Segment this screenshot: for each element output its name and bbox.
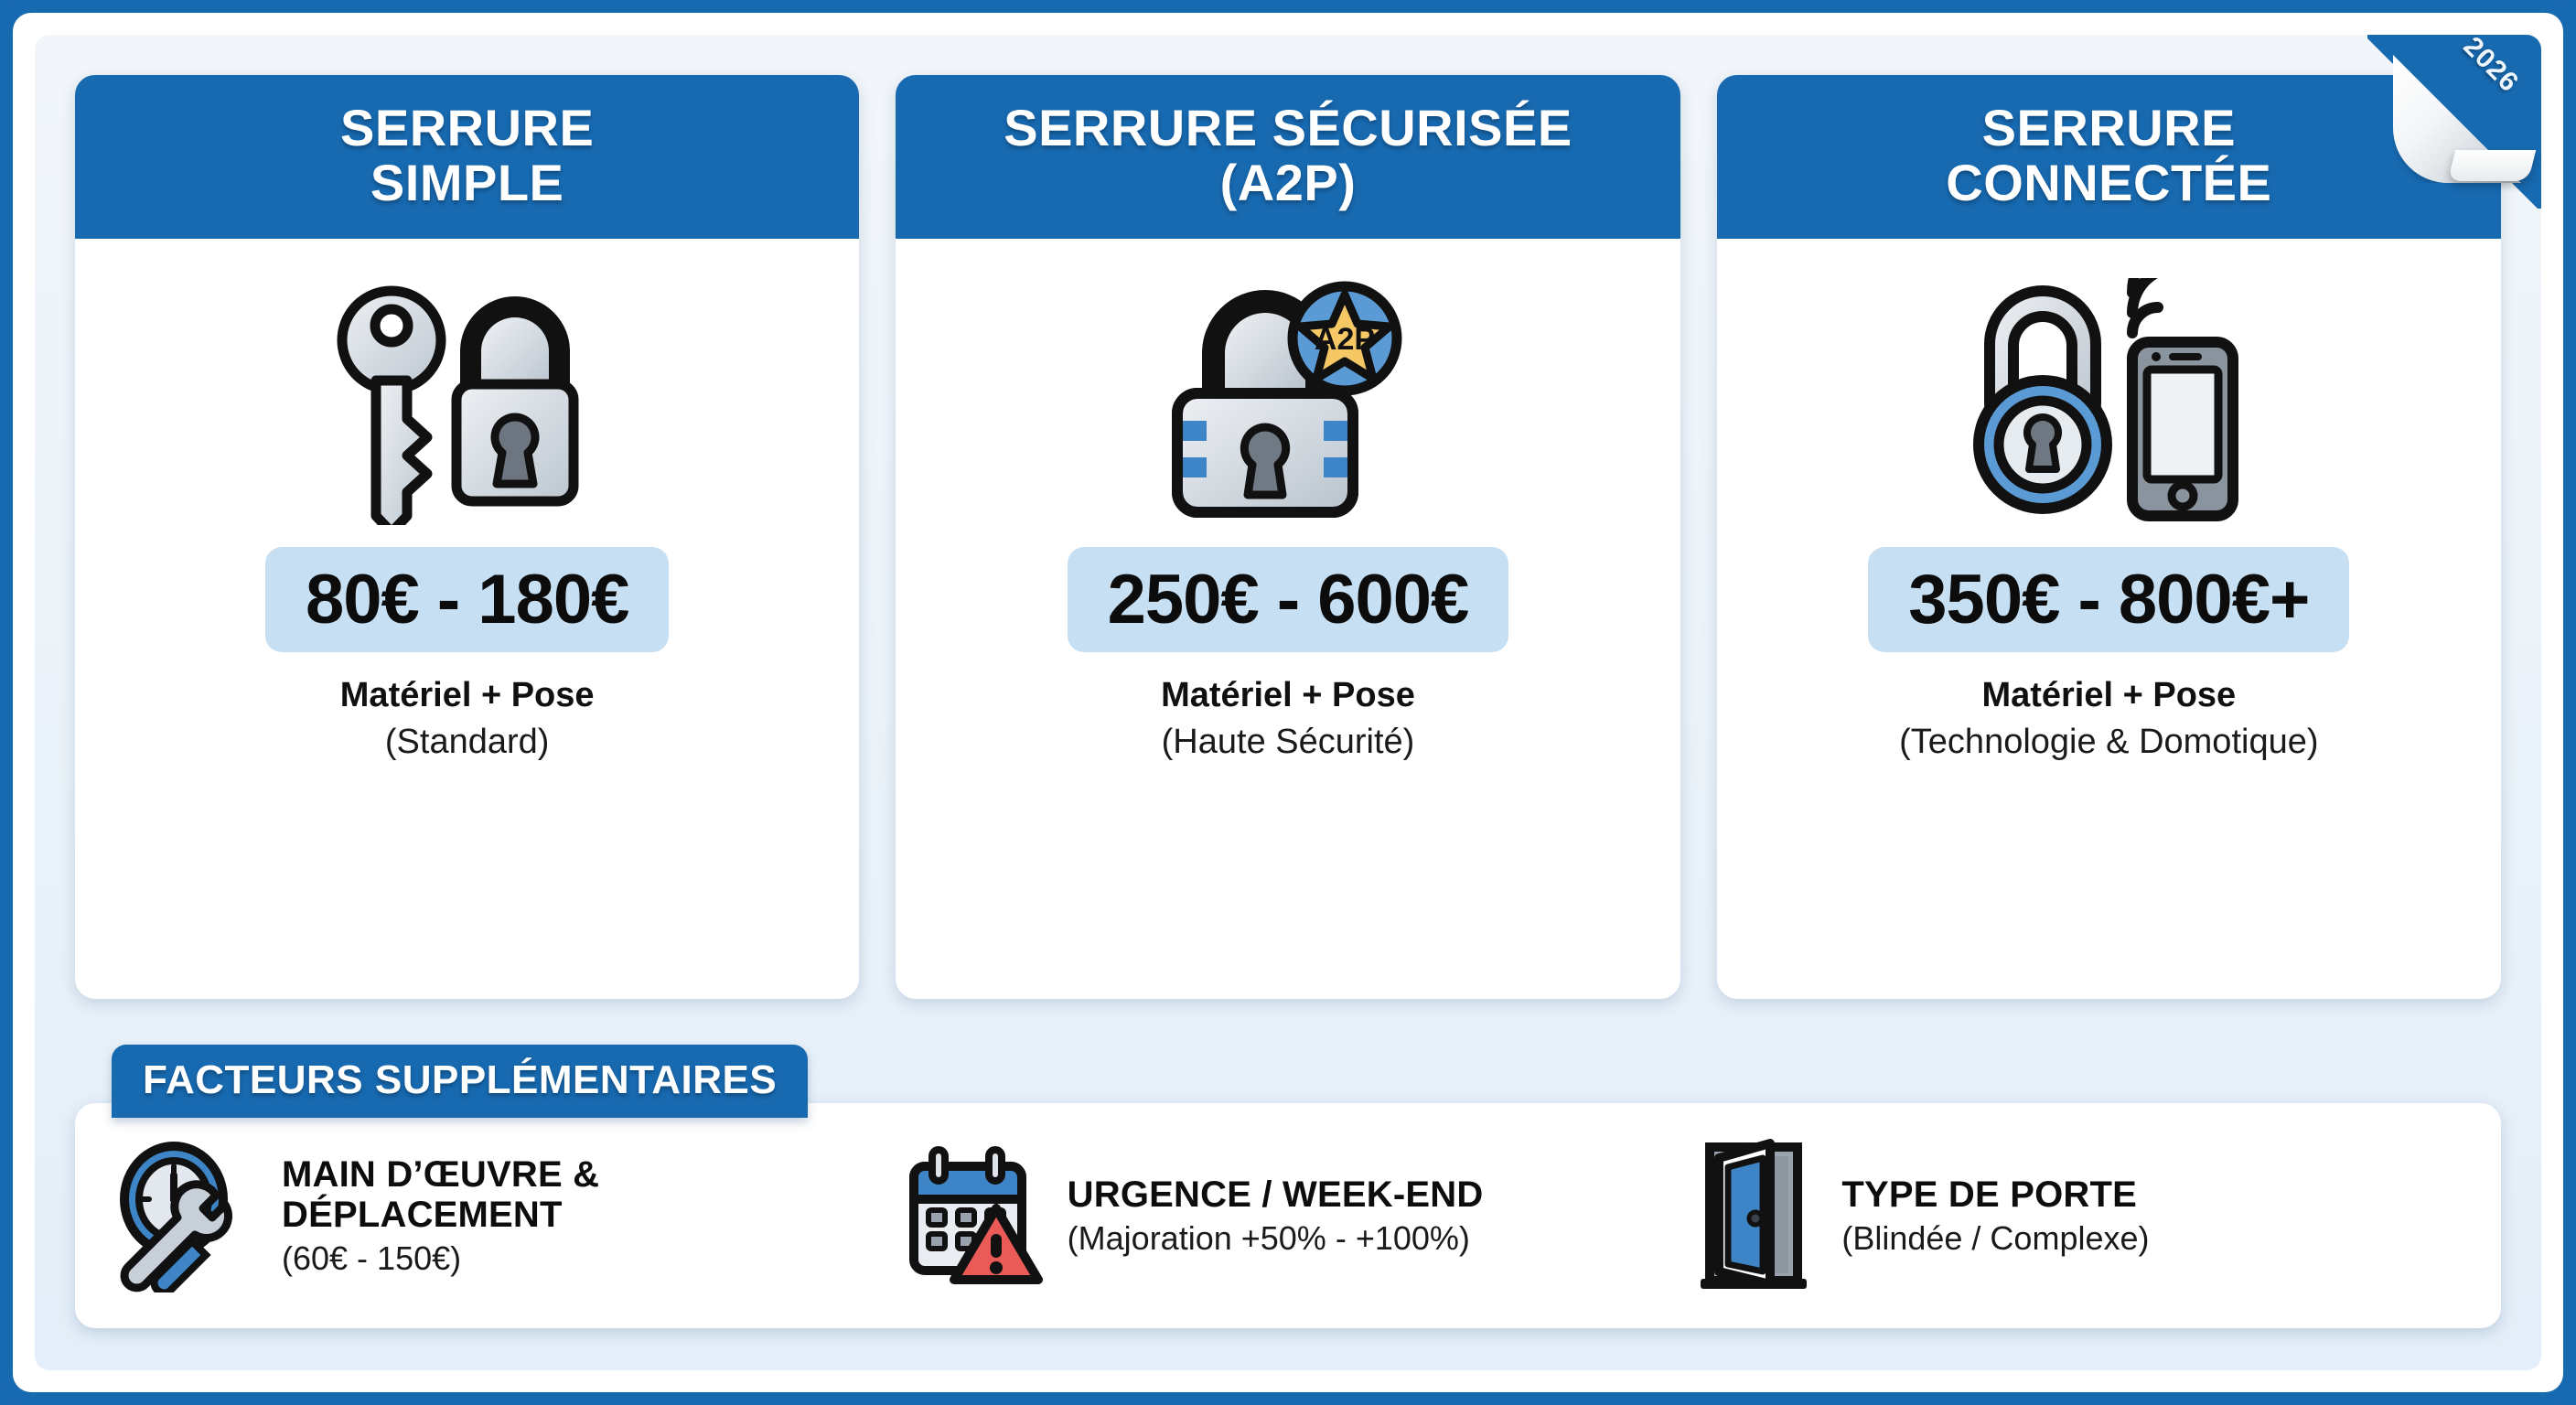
key-and-padlock-icon [335, 278, 600, 525]
factors-tab-label: FACTEURS SUPPLÉMENTAIRES [112, 1045, 808, 1118]
card-subtitle-secondary: (Standard) [385, 723, 550, 762]
pricing-card-serrure-connectee[interactable]: SERRURE CONNECTÉE [1717, 75, 2501, 999]
factor-title-line1: URGENCE / WEEK-END [1068, 1174, 1484, 1216]
card-title-line1: SERRURE [1732, 101, 2486, 156]
factor-item-labour[interactable]: MAIN D’ŒUVRE & DÉPLACEMENT (60€ - 150€) [108, 1139, 883, 1292]
card-subtitle-primary: Matériel + Pose [1981, 676, 2236, 715]
card-subtitle-primary: Matériel + Pose [340, 676, 595, 715]
outer-blue-frame: 2026 SERRURE SIMPLE [0, 0, 2576, 1405]
clock-wrench-icon [108, 1139, 262, 1292]
card-body: A2P 250€ - 600€ Matériel + Pose (Haute S… [896, 239, 1680, 999]
a2p-badge-label: A2P [1315, 322, 1375, 357]
card-title-line1: SERRURE SÉCURISÉE [910, 101, 1665, 156]
card-subtitle-secondary: (Technologie & Domotique) [1899, 723, 2318, 762]
card-title-line1: SERRURE [90, 101, 844, 156]
price-badge: 250€ - 600€ [1068, 547, 1509, 652]
card-icon-area [1962, 263, 2255, 542]
card-header: SERRURE SIMPLE [75, 75, 859, 239]
card-body: 80€ - 180€ Matériel + Pose (Standard) [75, 239, 859, 999]
card-header: SERRURE CONNECTÉE [1717, 75, 2501, 239]
white-sheet: 2026 SERRURE SIMPLE [13, 13, 2563, 1392]
factor-title-line2: DÉPLACEMENT [282, 1195, 599, 1236]
card-title-line2: SIMPLE [90, 156, 844, 210]
price-badge: 350€ - 800€+ [1868, 547, 2349, 652]
card-subtitle-secondary: (Haute Sécurité) [1162, 723, 1415, 762]
additional-factors-section: FACTEURS SUPPLÉMENTAIRES [75, 1045, 2501, 1328]
card-body: 350€ - 800€+ Matériel + Pose (Technologi… [1717, 239, 2501, 999]
padlock-a2p-star-icon: A2P [1157, 278, 1418, 525]
infographic-canvas: 2026 SERRURE SIMPLE [35, 35, 2541, 1370]
pricing-cards-row: SERRURE SIMPLE [75, 75, 2501, 999]
factor-item-door-type[interactable]: TYPE DE PORTE (Blindée / Complexe) [1693, 1138, 2468, 1293]
factor-text: URGENCE / WEEK-END (Majoration +50% - +1… [1068, 1174, 1484, 1257]
card-title-line2: CONNECTÉE [1732, 156, 2486, 210]
factor-title-line1: TYPE DE PORTE [1841, 1174, 2149, 1216]
calendar-alert-icon [901, 1142, 1047, 1289]
card-subtitle-primary: Matériel + Pose [1161, 676, 1415, 715]
factor-subtitle: (60€ - 150€) [282, 1239, 599, 1277]
price-badge: 80€ - 180€ [265, 547, 669, 652]
pricing-card-serrure-securisee-a2p[interactable]: SERRURE SÉCURISÉE (A2P) [896, 75, 1680, 999]
card-icon-area [335, 263, 600, 542]
factor-subtitle: (Blindée / Complexe) [1841, 1219, 2149, 1257]
factor-title-line1: MAIN D’ŒUVRE & [282, 1154, 599, 1196]
card-icon-area: A2P [1157, 263, 1418, 542]
factors-panel: MAIN D’ŒUVRE & DÉPLACEMENT (60€ - 150€) [75, 1103, 2501, 1328]
pricing-card-serrure-simple[interactable]: SERRURE SIMPLE [75, 75, 859, 999]
factor-text: TYPE DE PORTE (Blindée / Complexe) [1841, 1174, 2149, 1257]
factor-text: MAIN D’ŒUVRE & DÉPLACEMENT (60€ - 150€) [282, 1154, 599, 1278]
factor-item-urgency[interactable]: URGENCE / WEEK-END (Majoration +50% - +1… [901, 1142, 1676, 1289]
card-header: SERRURE SÉCURISÉE (A2P) [896, 75, 1680, 239]
card-title-line2: (A2P) [910, 156, 1665, 210]
factor-subtitle: (Majoration +50% - +100%) [1068, 1219, 1484, 1257]
smart-padlock-phone-icon [1962, 278, 2255, 525]
open-door-icon [1693, 1138, 1821, 1293]
